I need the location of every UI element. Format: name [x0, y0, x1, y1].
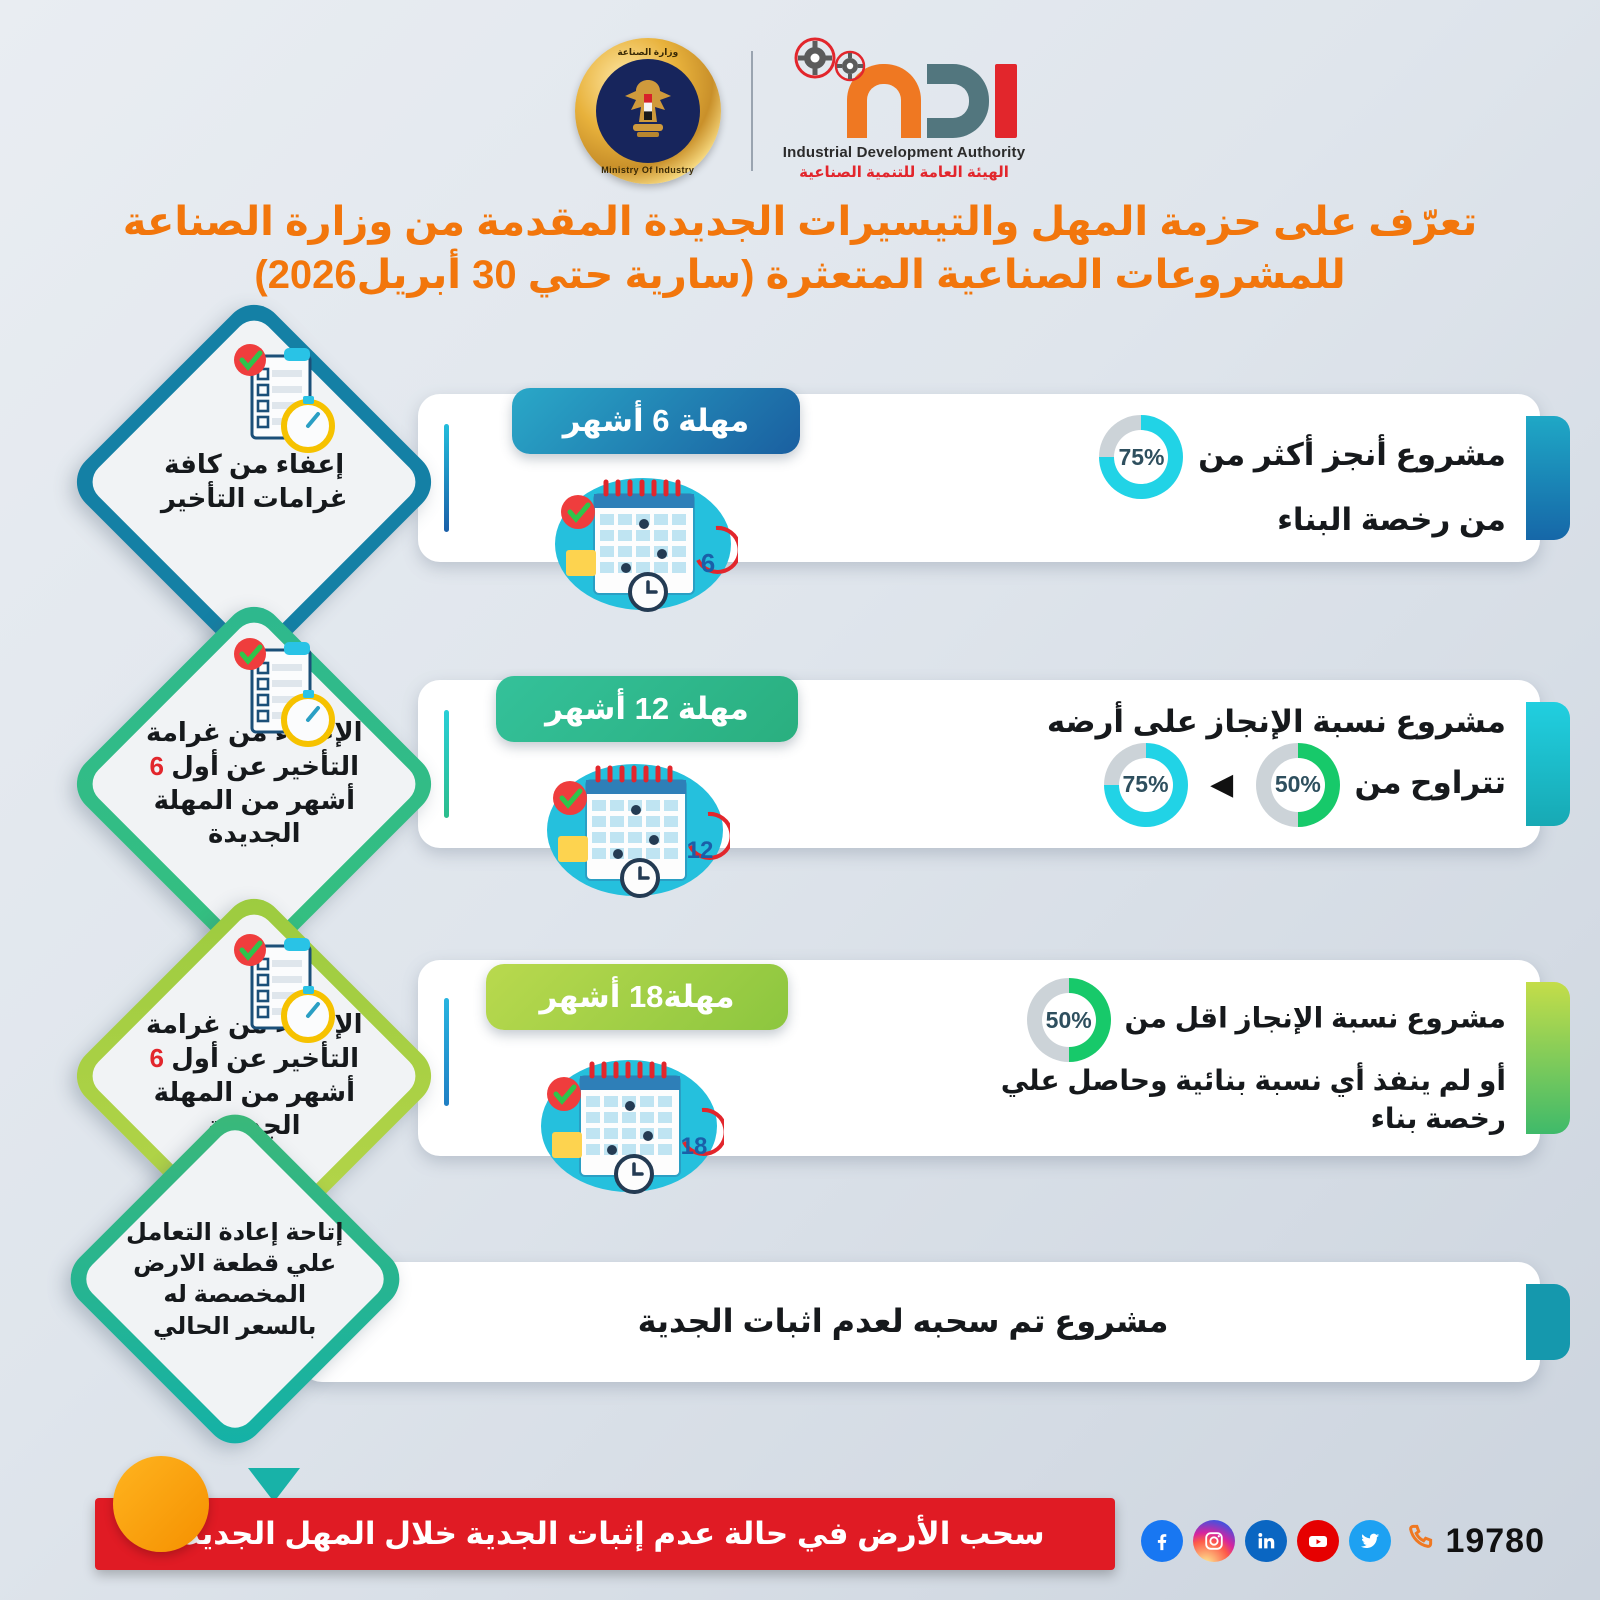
benefit-text-4: إتاحة إعادة التعامل علي قطعة الارض المخص… [122, 1217, 348, 1342]
donut-label-50-row3: 50% [1046, 1005, 1092, 1036]
donut-75-row1: 75% [1099, 415, 1183, 499]
title-line-1: تعرّف على حزمة المهل والتيسيرات الجديدة … [60, 196, 1540, 249]
case-card-4: مشروع تم سحبه لعدم اثبات الجدية [300, 1262, 1540, 1382]
phone-icon [1405, 1522, 1435, 1560]
teal-triangle-decor [248, 1468, 300, 1502]
tier-row-2: مشروع نسبة الإنجاز على أرضه تتراوح من 50… [0, 658, 1600, 888]
twitter-icon[interactable] [1349, 1520, 1391, 1562]
case-text-3: مشروع نسبة الإنجاز اقل من 50% أو لم ينفذ… [1001, 978, 1506, 1138]
ida-logo: Industrial Development Authority الهيئة … [783, 42, 1026, 181]
calendar-illustration-1: 6 [548, 464, 738, 614]
row-separator-2 [444, 710, 449, 818]
social-links: 19780 [1141, 1520, 1545, 1562]
instagram-icon[interactable] [1193, 1520, 1235, 1562]
calendar-illustration-2: 12 [540, 750, 730, 900]
seal-emblem [596, 59, 700, 163]
donut-label-50-row2: 50% [1275, 769, 1321, 800]
case-text-4: مشروع تم سحبه لعدم اثبات الجدية [300, 1300, 1506, 1343]
facebook-icon[interactable] [1141, 1520, 1183, 1562]
grace-badge-2: مهلة 12 أشهر [496, 676, 798, 742]
case-text-1: مشروع أنجز أكثر من 75% من رخصة البناء [1093, 415, 1506, 541]
orange-orb-decor [113, 1456, 209, 1552]
case-line-3b: أو لم ينفذ أي نسبة بنائية وحاصل علي [1001, 1065, 1506, 1096]
seal-bottom-text: Ministry Of Industry [601, 165, 694, 175]
clipboard-stopwatch-icon-2 [226, 636, 344, 764]
tier-row-1: مشروع أنجز أكثر من 75% من رخصة البناء مه… [0, 372, 1600, 602]
range-arrow-icon: ◀ [1210, 768, 1233, 801]
case-line-3c: رخصة بناء [1371, 1103, 1506, 1134]
gears-icon [789, 36, 871, 92]
youtube-icon[interactable] [1297, 1520, 1339, 1562]
tier-row-4: مشروع تم سحبه لعدم اثبات الجدية إتاحة إع… [0, 1254, 1600, 1404]
case-line-2b: تتراوح من [1354, 765, 1506, 800]
infographic-canvas: Industrial Development Authority الهيئة … [0, 0, 1600, 1600]
donut-label-75-row2: 75% [1123, 769, 1169, 800]
footer: 19780 سحب الأرض في حالة عدم إثبات الجدية… [0, 1470, 1600, 1600]
seal-top-text: وزارة الصناعة [617, 47, 678, 58]
row-separator-3 [444, 998, 449, 1106]
title-line-2: للمشروعات الصناعية المتعثرة (سارية حتي 3… [60, 249, 1540, 302]
case-line-2a: مشروع نسبة الإنجاز على أرضه [1047, 704, 1506, 739]
donut-label-75-row1: 75% [1118, 442, 1164, 473]
linkedin-icon[interactable] [1245, 1520, 1287, 1562]
calendar-number-2: 12 [687, 837, 714, 864]
donut-50-row3: 50% [1027, 978, 1111, 1062]
case-line-1a: مشروع أنجز أكثر من [1198, 437, 1506, 472]
case-line-3a: مشروع نسبة الإنجاز اقل من [1124, 1003, 1506, 1034]
warning-text: سحب الأرض في حالة عدم إثبات الجدية خلال … [165, 1516, 1044, 1552]
logo-letter-i [995, 64, 1017, 138]
benefit-3-highlight: 6 [149, 1043, 163, 1073]
logo-divider [751, 51, 753, 171]
ida-caption-en: Industrial Development Authority [783, 144, 1026, 161]
calendar-number-1: 6 [701, 548, 715, 578]
row-separator-1 [444, 424, 449, 532]
donut-75-row2: 75% [1104, 743, 1188, 827]
warning-banner: سحب الأرض في حالة عدم إثبات الجدية خلال … [95, 1498, 1115, 1570]
logo-letter-d [927, 64, 989, 138]
calendar-illustration-3: 18 [534, 1046, 724, 1196]
header-logos: Industrial Development Authority الهيئة … [0, 36, 1600, 186]
grace-badge-1: مهلة 6 أشهر [512, 388, 800, 454]
donut-50-row2: 50% [1256, 743, 1340, 827]
case-text-2: مشروع نسبة الإنجاز على أرضه تتراوح من 50… [1047, 701, 1506, 827]
eagle-icon [609, 74, 687, 148]
page-title: تعرّف على حزمة المهل والتيسيرات الجديدة … [60, 196, 1540, 302]
benefit-2-post: أشهر من المهلة الجديدة [153, 785, 354, 849]
ministry-seal: وزارة الصناعة Ministry Of Industry [575, 38, 721, 184]
ida-caption-ar: الهيئة العامة للتنمية الصناعية [799, 163, 1009, 181]
case-line-1b: من رخصة البناء [1277, 502, 1506, 537]
clipboard-stopwatch-icon-1 [226, 342, 344, 470]
benefit-2-highlight: 6 [149, 751, 163, 781]
grace-badge-3: مهلة18 أشهر [486, 964, 788, 1030]
clipboard-stopwatch-icon-3 [226, 932, 344, 1060]
hotline-number: 19780 [1445, 1522, 1545, 1561]
calendar-number-3: 18 [681, 1133, 708, 1160]
